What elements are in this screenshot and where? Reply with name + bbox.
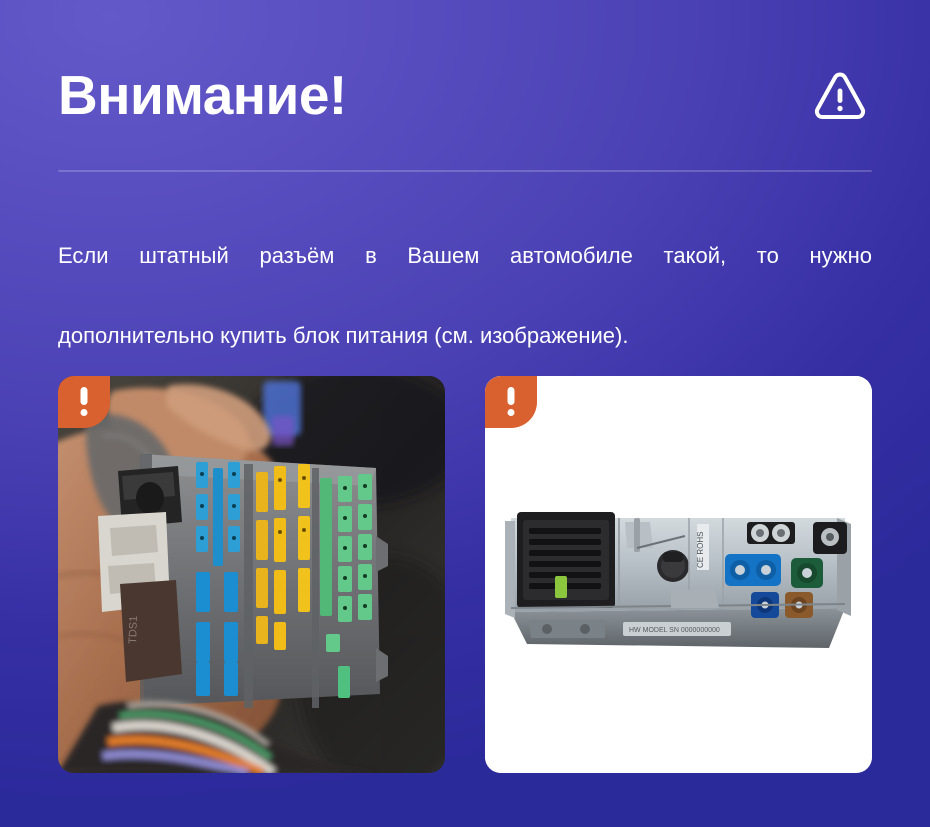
- image-cards-row: TDS1: [58, 376, 872, 773]
- body-text: Если штатный разъём в Вашем автомобиле т…: [58, 236, 872, 356]
- power-supply-image: CE ROHS: [485, 376, 872, 773]
- body-text-line-1: Если штатный разъём в Вашем автомобиле т…: [58, 236, 872, 316]
- header: Внимание!: [58, 50, 872, 140]
- warning-slide: Внимание! Если штатный разъём в Вашем ав…: [0, 0, 930, 827]
- connector-photo-image: TDS1: [58, 376, 445, 773]
- svg-text:HW MODEL SN 0000000000: HW MODEL SN 0000000000: [629, 627, 720, 634]
- card-power-supply-photo[interactable]: CE ROHS: [485, 376, 872, 773]
- page-title: Внимание!: [58, 68, 347, 123]
- exclamation-dot: [81, 409, 88, 416]
- svg-text:TDS1: TDS1: [127, 616, 140, 645]
- exclamation-badge-icon: [58, 376, 110, 428]
- warning-triangle-icon: [812, 67, 868, 123]
- exclamation-bar: [508, 387, 515, 405]
- exclamation-bar: [81, 387, 88, 405]
- exclamation-dot: [508, 409, 515, 416]
- svg-text:CE ROHS: CE ROHS: [696, 532, 705, 568]
- header-divider: [58, 170, 872, 172]
- body-text-line-2: дополнительно купить блок питания (см. и…: [58, 316, 872, 356]
- card-connector-photo[interactable]: TDS1: [58, 376, 445, 773]
- exclamation-badge-icon: [485, 376, 537, 428]
